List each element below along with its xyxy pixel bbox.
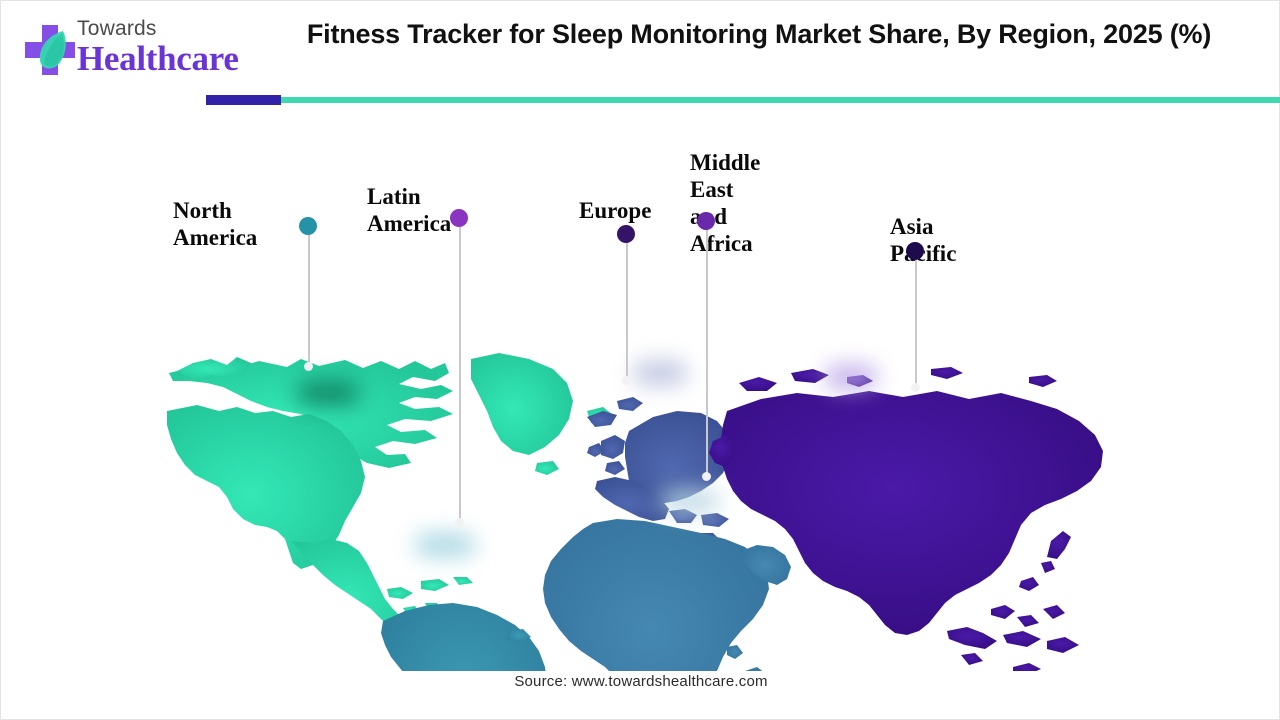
callout-stem-latin-america: [459, 221, 461, 522]
value-blob-middle-east-and-africa: [661, 489, 719, 513]
callout-dot-latin-america[interactable]: [450, 209, 468, 227]
callout-dot-asia-pacific[interactable]: [906, 242, 924, 260]
callout-tip-asia-pacific: [911, 383, 920, 392]
medical-cross-leaf-logo-icon: [19, 19, 81, 81]
callout-dot-middle-east-and-africa[interactable]: [697, 212, 715, 230]
value-blob-latin-america: [415, 533, 475, 557]
callout-tip-europe: [622, 376, 631, 385]
brand-logo[interactable]: Towards Healthcare: [19, 15, 259, 87]
map-region-asia-pacific: [709, 367, 1139, 671]
world-map: [1, 111, 1280, 671]
brand-wordmark: Towards Healthcare: [77, 17, 267, 77]
brand-name-line1: Towards: [77, 17, 267, 41]
chart-page: Towards Healthcare Fitness Tracker for S…: [0, 0, 1280, 720]
source-caption: Source: www.towardshealthcare.com: [1, 673, 1280, 690]
page-title: Fitness Tracker for Sleep Monitoring Mar…: [259, 17, 1259, 51]
callout-stem-europe: [626, 237, 628, 380]
region-label-latin-america: Latin America: [367, 183, 451, 237]
region-label-middle-east-and-africa: Middle East and Africa: [690, 149, 760, 257]
brand-name-line2: Healthcare: [77, 41, 267, 77]
value-blob-north-america: [297, 381, 359, 405]
region-label-asia-pacific: Asia Pacific: [890, 213, 956, 267]
map-region-latin-america: [381, 603, 547, 671]
callout-stem-asia-pacific: [915, 254, 917, 387]
callout-tip-north-america: [304, 362, 313, 371]
value-blob-europe: [633, 361, 687, 385]
callout-tip-middle-east-and-africa: [702, 472, 711, 481]
title-accent-rule-secondary: [206, 97, 1280, 103]
map-region-middle-east-and-africa: [543, 519, 791, 671]
callout-dot-europe[interactable]: [617, 225, 635, 243]
value-blob-asia-pacific: [825, 365, 877, 389]
region-label-north-america: North America: [173, 197, 257, 251]
callout-stem-middle-east-and-africa: [706, 224, 708, 476]
title-accent-rule-primary: [206, 95, 281, 105]
region-label-europe: Europe: [579, 197, 651, 224]
callout-dot-north-america[interactable]: [299, 217, 317, 235]
callout-tip-latin-america: [455, 518, 464, 527]
callout-stem-north-america: [308, 229, 310, 366]
